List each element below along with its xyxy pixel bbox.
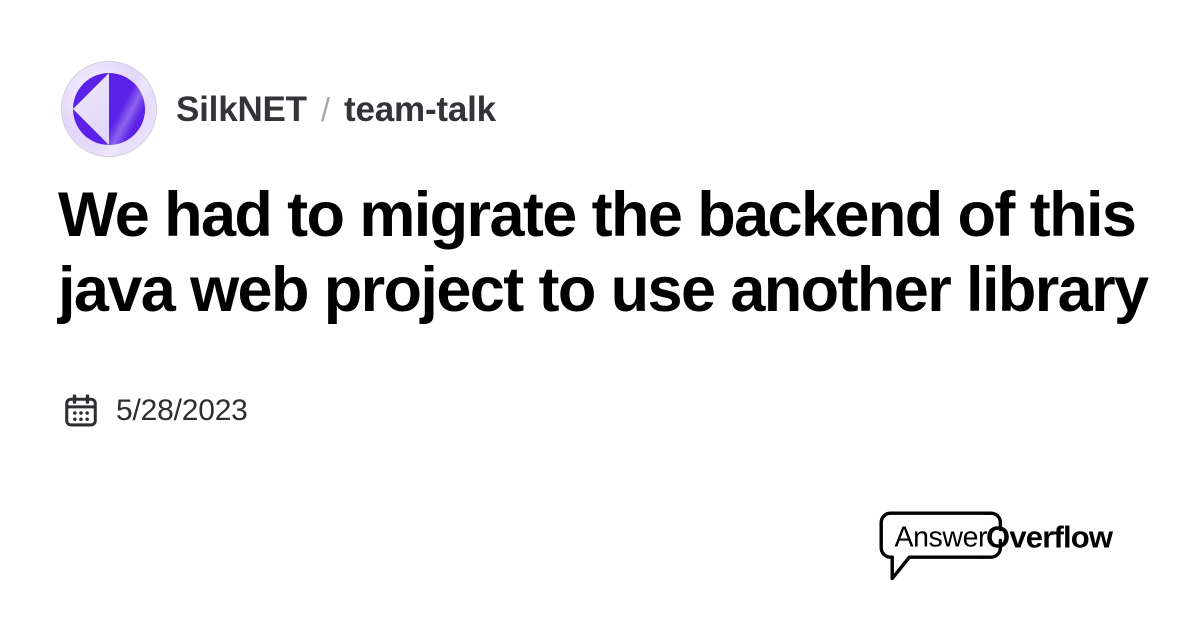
post-date: 5/28/2023 xyxy=(62,392,248,430)
answer-overflow-logo[interactable]: Answer Overflow xyxy=(878,510,1118,584)
answer-overflow-word-overflow: Overflow xyxy=(986,520,1114,555)
breadcrumb-server-name[interactable]: SilkNET xyxy=(176,92,307,127)
calendar-icon xyxy=(62,392,100,430)
breadcrumb-text: SilkNET / team-talk xyxy=(176,92,496,127)
open-graph-card: SilkNET / team-talk We had to migrate th… xyxy=(0,0,1200,630)
answer-overflow-logo-icon: Answer Overflow xyxy=(878,510,1118,584)
breadcrumb: SilkNET / team-talk xyxy=(62,62,496,156)
breadcrumb-separator: / xyxy=(321,93,330,126)
post-date-text: 5/28/2023 xyxy=(116,396,248,426)
page-title: We had to migrate the backend of this ja… xyxy=(58,178,1148,328)
breadcrumb-channel-name[interactable]: team-talk xyxy=(344,92,496,127)
avatar xyxy=(62,62,156,156)
answer-overflow-word-answer: Answer xyxy=(895,522,989,554)
silknet-logo-icon xyxy=(62,62,156,156)
